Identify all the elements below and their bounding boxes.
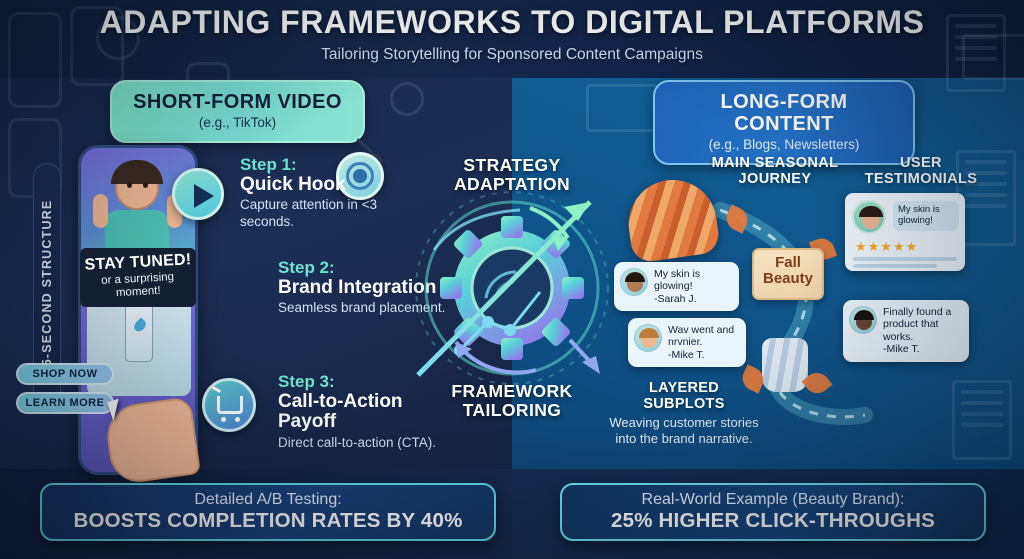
learn-more-button[interactable]: LEARN MORE bbox=[16, 392, 114, 414]
bubble-text: My skin is glowing! -Sarah J. bbox=[654, 268, 731, 305]
step-1-title: Quick Hook bbox=[240, 175, 415, 196]
framework-tailoring-label: FRAMEWORK TAILORING bbox=[412, 382, 612, 420]
cart-wheel-left bbox=[221, 417, 226, 422]
fall-beauty-line-1: Fall bbox=[754, 255, 822, 271]
badge-long-form-content: LONG-FORM CONTENT (e.g., Blogs, Newslett… bbox=[653, 80, 915, 165]
framework-line-1: FRAMEWORK bbox=[412, 382, 612, 401]
speech-bubble-mike: Wav went and nrvnier. -Mike T. bbox=[628, 318, 746, 367]
badge-short-sub: (e.g., TikTok) bbox=[130, 115, 345, 130]
bubble-text: Finally found a product that works. -Mik… bbox=[883, 306, 961, 356]
framework-line-2: TAILORING bbox=[412, 401, 612, 420]
avatar-hair bbox=[625, 272, 645, 282]
bubble-quote: Finally found a product that works. bbox=[883, 306, 951, 343]
badge-long-title: LONG-FORM CONTENT bbox=[673, 91, 895, 135]
vertical-structure-label-text: 15-SECOND STRUCTURE bbox=[40, 200, 54, 375]
banner-real-world-example: Real-World Example (Beauty Brand): 25% H… bbox=[560, 483, 986, 541]
step-1-number: Step 1: bbox=[240, 155, 415, 175]
banner-left-label: Detailed A/B Testing: bbox=[42, 491, 494, 509]
cart-wheel-right bbox=[235, 417, 240, 422]
star-rating-icon: ★★★★★ bbox=[855, 239, 918, 255]
creator-arm-left bbox=[93, 194, 108, 228]
open-book-icon bbox=[586, 84, 658, 132]
bubble-quote: My skin is glowing! bbox=[654, 268, 700, 292]
step-1-desc: Capture attention in <3 seconds. bbox=[240, 197, 415, 230]
badge-short-title: SHORT-FORM VIDEO bbox=[130, 91, 345, 113]
avatar bbox=[852, 200, 886, 234]
badge-short-form-video: SHORT-FORM VIDEO (e.g., TikTok) bbox=[110, 80, 365, 143]
text-placeholder-line bbox=[853, 257, 957, 261]
subplots-desc: Weaving customer stories into the brand … bbox=[608, 415, 760, 446]
avatar-hair bbox=[854, 310, 874, 320]
testimonial-card-quote: Finally found a product that works. -Mik… bbox=[843, 300, 969, 362]
subplots-heading-line-1: LAYERED bbox=[608, 380, 760, 396]
avatar-hair bbox=[639, 328, 659, 338]
gear-icon bbox=[400, 180, 625, 400]
bubble-text: Wav went and nrvnier. -Mike T. bbox=[668, 324, 738, 361]
avatar-hair bbox=[859, 206, 883, 217]
avatar bbox=[849, 306, 877, 334]
banner-left-stat: BOOSTS COMPLETION RATES BY 40% bbox=[42, 509, 494, 534]
testimonial-card-rating: My skin is glowing! ★★★★★ bbox=[845, 193, 965, 271]
layered-subplots-block: LAYERED SUBPLOTS Weaving customer storie… bbox=[608, 380, 760, 447]
banner-right-label: Real-World Example (Beauty Brand): bbox=[562, 491, 984, 509]
strategy-line-1: STRATEGY bbox=[412, 156, 612, 175]
banner-right-stat: 25% HIGHER CLICK-THROUGHS bbox=[562, 509, 984, 534]
bubble-author: -Sarah J. bbox=[654, 293, 697, 305]
text-placeholder-line bbox=[853, 264, 937, 268]
play-circle-icon bbox=[390, 82, 424, 116]
creator-hair bbox=[111, 160, 163, 184]
strategy-line-2: ADAPTATION bbox=[412, 175, 612, 194]
step-3-desc: Direct call-to-action (CTA). bbox=[278, 435, 463, 451]
badge-long-sub: (e.g., Blogs, Newsletters) bbox=[673, 137, 895, 152]
bubble-author: -Mike T. bbox=[668, 349, 705, 361]
infographic-canvas: ADAPTING FRAMEWORKS TO DIGITAL PLATFORMS… bbox=[0, 0, 1024, 559]
product-bottle-icon bbox=[125, 300, 153, 362]
avatar bbox=[620, 268, 648, 296]
shopping-cart-icon bbox=[202, 378, 256, 432]
strategy-adaptation-label: STRATEGY ADAPTATION bbox=[412, 156, 612, 194]
banner-ab-testing: Detailed A/B Testing: BOOSTS COMPLETION … bbox=[40, 483, 496, 541]
step-1: Step 1: Quick Hook Capture attention in … bbox=[240, 155, 415, 230]
cart-basket bbox=[217, 396, 243, 414]
creator-eye-left bbox=[127, 182, 132, 188]
journey-heading-line-1: MAIN SEASONAL bbox=[700, 155, 850, 171]
testimonial-quote: My skin is glowing! bbox=[893, 201, 959, 231]
video-caption-overlay: STAY TUNED! or a surprising moment! bbox=[80, 248, 196, 307]
fall-beauty-line-2: Beauty bbox=[754, 271, 822, 287]
boot-illustration bbox=[762, 338, 808, 392]
page-subtitle: Tailoring Storytelling for Sponsored Con… bbox=[0, 46, 1024, 64]
caption-line-2: or a surprising moment! bbox=[83, 270, 192, 302]
creator-eye-right bbox=[143, 182, 148, 188]
subplots-heading-line-2: SUBPLOTS bbox=[608, 396, 760, 412]
fall-beauty-badge: Fall Beauty bbox=[752, 248, 824, 300]
shop-now-button[interactable]: SHOP NOW bbox=[16, 363, 114, 385]
play-button-icon[interactable] bbox=[172, 168, 224, 220]
bubble-author: -Mike T. bbox=[883, 343, 920, 355]
bubble-quote: Wav went and nrvnier. bbox=[668, 324, 734, 348]
avatar bbox=[634, 324, 662, 352]
testimonials-heading-line-1: USER bbox=[862, 155, 980, 171]
water-drop-icon bbox=[132, 317, 148, 333]
speech-bubble-sarah: My skin is glowing! -Sarah J. bbox=[614, 262, 739, 311]
page-title: ADAPTING FRAMEWORKS TO DIGITAL PLATFORMS bbox=[0, 4, 1024, 41]
